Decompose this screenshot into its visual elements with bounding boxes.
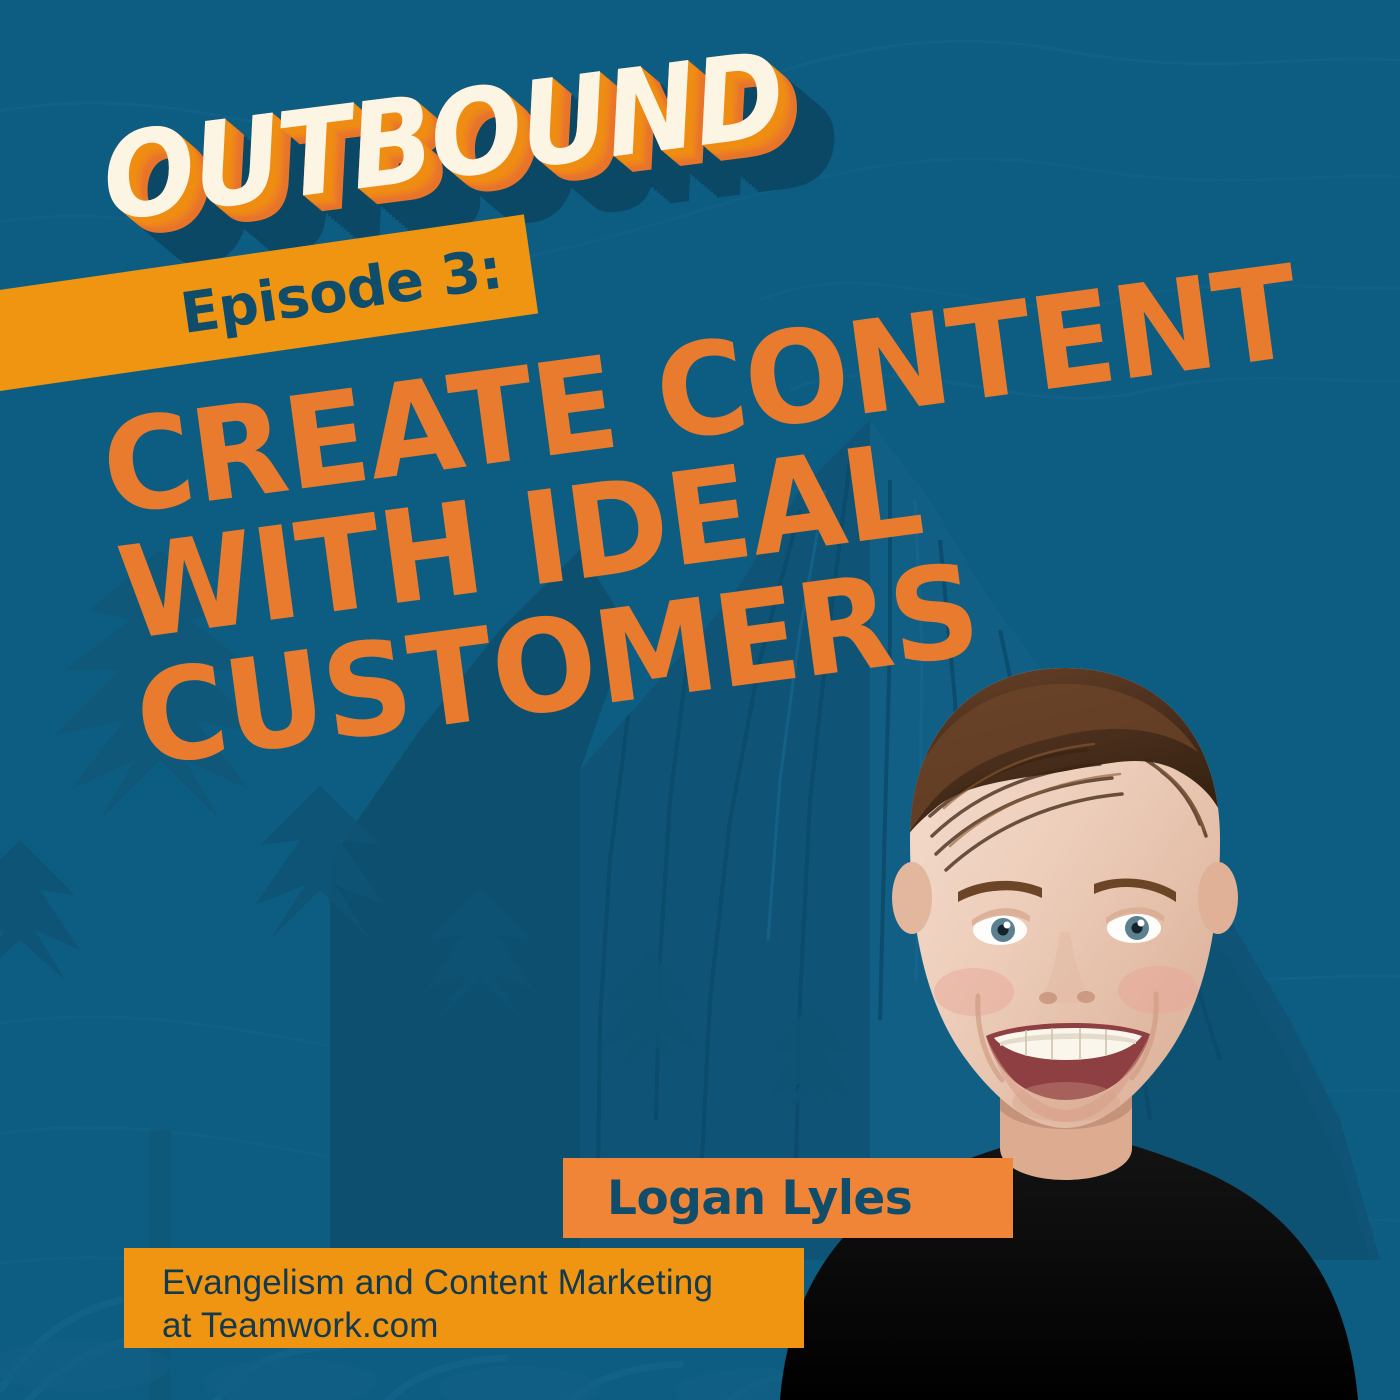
logo-face: OUTBOUND xyxy=(96,35,789,238)
guest-role-line-1: Evangelism and Content Marketing xyxy=(162,1262,804,1305)
guest-role-banner: Evangelism and Content Marketing at Team… xyxy=(124,1248,804,1348)
guest-name-label: Logan Lyles xyxy=(607,1171,912,1226)
podcast-cover-art: OUTBOUND OUTBOUND OUTBOUND Episode 3: CR… xyxy=(0,0,1400,1400)
guest-name-banner: Logan Lyles xyxy=(563,1158,1013,1238)
guest-portrait-photo xyxy=(760,640,1370,1400)
guest-role-line-2: at Teamwork.com xyxy=(162,1305,804,1348)
